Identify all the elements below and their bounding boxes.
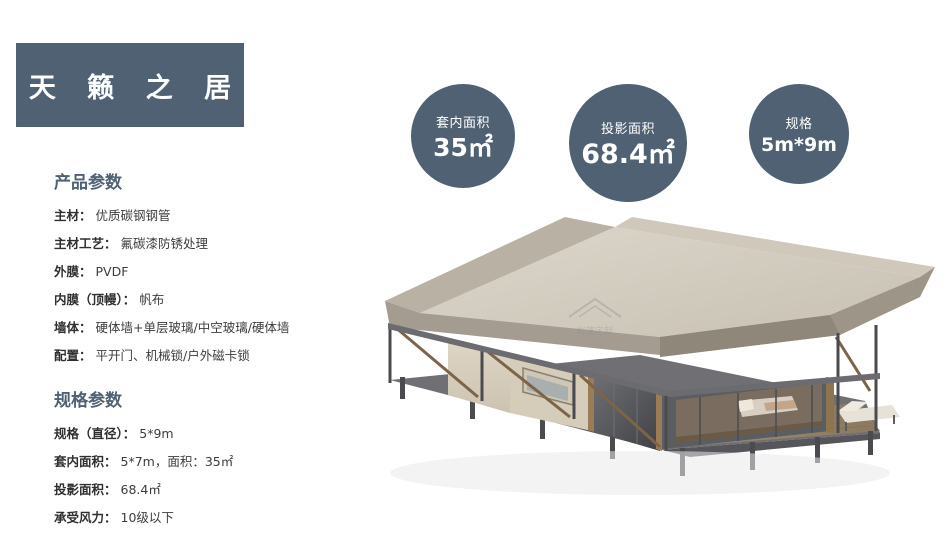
badge-value: 35㎡ — [433, 135, 493, 160]
badge-value: 5m*9m — [761, 136, 837, 155]
spec-label: 配置： — [54, 345, 92, 364]
spec-row: 套内面积： 5*7m，面积：35㎡ — [54, 451, 384, 470]
spec-label: 投影面积： — [54, 479, 117, 498]
ground-shadow — [390, 451, 890, 495]
spec-label: 墙体： — [54, 317, 92, 336]
spec-row: 内膜（顶幔）： 帆布 — [54, 289, 384, 308]
spec-label: 主材： — [54, 205, 92, 224]
spec-row: 承受风力： 10级以下 — [54, 507, 384, 526]
spec-value: 5*7m，面积：35㎡ — [121, 451, 234, 470]
spec-row: 外膜： PVDF — [54, 261, 384, 280]
spec-value: 5*9m — [139, 426, 173, 441]
specifications-panel: 产品参数 主材： 优质碳钢钢管 主材工艺： 氟碳漆防锈处理 外膜： PVDF 内… — [54, 168, 384, 534]
spec-value: 优质碳钢钢管 — [96, 205, 171, 224]
tent-render-illustration — [360, 205, 950, 525]
section-heading-product: 产品参数 — [54, 168, 384, 193]
spec-label: 套内面积： — [54, 451, 117, 470]
badge-indoor-area: 套内面积 35㎡ — [411, 84, 515, 188]
badge-value: 68.4㎡ — [581, 141, 675, 168]
spec-label: 承受风力： — [54, 507, 117, 526]
spec-value: 68.4㎡ — [121, 479, 161, 498]
spec-row: 墙体： 硬体墙+单层玻璃/中空玻璃/硬体墙 — [54, 317, 384, 336]
section-heading-dimensions: 规格参数 — [54, 386, 384, 411]
spec-label: 外膜： — [54, 261, 92, 280]
spec-value: 平开门、机械锁/户外磁卡锁 — [96, 345, 250, 364]
spec-row: 配置： 平开门、机械锁/户外磁卡锁 — [54, 345, 384, 364]
spec-label: 规格（直径）： — [54, 423, 135, 442]
badge-label: 套内面积 — [436, 112, 490, 131]
spec-value: PVDF — [96, 264, 129, 279]
spec-value: 10级以下 — [121, 507, 174, 526]
page-title-text: 天 籁 之 居 — [18, 66, 242, 105]
spec-label: 内膜（顶幔）： — [54, 289, 135, 308]
badge-label: 投影面积 — [601, 118, 655, 137]
page-title: 天 籁 之 居 — [16, 43, 244, 127]
badge-label: 规格 — [785, 113, 812, 132]
page-root: 天 籁 之 居 产品参数 主材： 优质碳钢钢管 主材工艺： 氟碳漆防锈处理 外膜… — [0, 0, 950, 534]
post-wood-3 — [826, 377, 834, 433]
spec-label: 主材工艺： — [54, 233, 117, 252]
badge-projected-area: 投影面积 68.4㎡ — [569, 84, 687, 202]
spec-row: 主材： 优质碳钢钢管 — [54, 205, 384, 224]
spec-row: 投影面积： 68.4㎡ — [54, 479, 384, 498]
spec-value: 帆布 — [139, 289, 164, 308]
badge-dimensions: 规格 5m*9m — [749, 84, 849, 184]
spec-row: 主材工艺： 氟碳漆防锈处理 — [54, 233, 384, 252]
spec-row: 规格（直径）： 5*9m — [54, 423, 384, 442]
spec-value: 硬体墙+单层玻璃/中空玻璃/硬体墙 — [96, 317, 290, 336]
spec-value: 氟碳漆防锈处理 — [121, 233, 209, 252]
